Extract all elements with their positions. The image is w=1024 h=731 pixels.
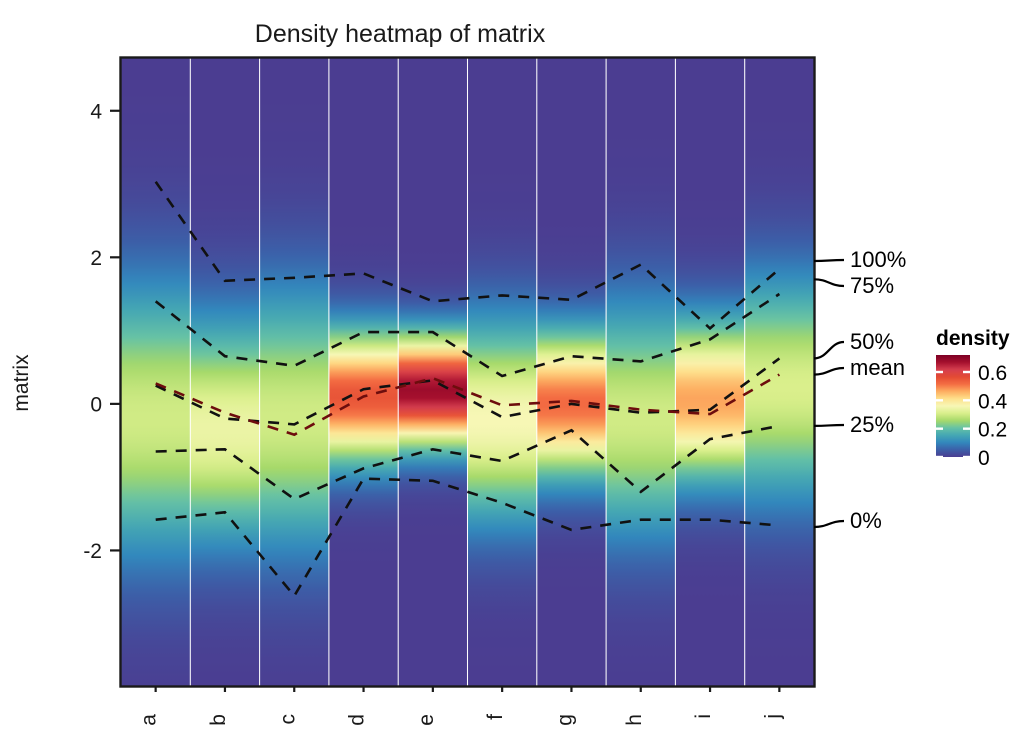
heatmap-column-h <box>607 58 675 686</box>
legend-tick-label: 0 <box>978 447 990 470</box>
y-tick-label: 0 <box>90 393 102 416</box>
heatmap-column-e <box>399 58 467 686</box>
x-tick-label-g: g <box>553 714 576 726</box>
annotation-leader-line <box>814 279 844 286</box>
y-tick-label: 2 <box>90 247 102 270</box>
x-tick-label-e: e <box>415 714 438 726</box>
x-tick-label-c: c <box>276 714 299 725</box>
x-tick-label-i: i <box>692 714 715 719</box>
y-axis: 420-2 <box>83 100 121 563</box>
annotation-leader-line <box>814 342 844 358</box>
heatmap-column-i <box>676 58 744 686</box>
annotation-leader-line <box>814 260 844 261</box>
annotation-label-mean: mean <box>850 355 905 380</box>
annotation-leader-line <box>814 368 844 375</box>
annotation-label-25pct: 25% <box>850 412 894 437</box>
legend-tick-label: 0.6 <box>978 362 1007 385</box>
legend-tick-label: 0.2 <box>978 419 1007 442</box>
x-tick-label-f: f <box>484 714 507 720</box>
y-tick-label: 4 <box>90 100 102 123</box>
annotation-label-50pct: 50% <box>850 329 894 354</box>
heatmap-column-g <box>537 58 605 686</box>
heatmap-column-b <box>191 58 259 686</box>
annotation-leader-line <box>814 425 844 426</box>
legend-title: density <box>936 327 1010 350</box>
y-axis-title: matrix <box>10 354 33 412</box>
heatmap-column-c <box>260 58 328 686</box>
density-heatmap-figure: Density heatmap of matrix matrix 420-2 a… <box>0 0 1024 731</box>
legend-colorbar[interactable] <box>936 355 970 457</box>
annotation-label-100pct: 100% <box>850 247 906 272</box>
x-tick-label-b: b <box>207 714 230 726</box>
heatmap-column-f <box>468 58 536 686</box>
quantile-annotations: 100%75%50%mean25%0% <box>814 247 906 533</box>
y-tick-label: -2 <box>83 540 102 563</box>
heatmap-columns <box>122 58 814 686</box>
annotation-leader-line <box>814 521 844 527</box>
heatmap-column-d <box>329 58 397 686</box>
legend-tick-label: 0.4 <box>978 390 1008 413</box>
heatmap-column-a <box>122 58 190 686</box>
chart-canvas: Density heatmap of matrix matrix 420-2 a… <box>0 0 1024 731</box>
page-title: Density heatmap of matrix <box>255 20 546 48</box>
x-tick-label-d: d <box>346 714 369 726</box>
x-tick-label-h: h <box>623 714 646 726</box>
heatmap-column-j <box>745 58 813 686</box>
density-legend[interactable]: 00.20.40.6 <box>936 355 1008 470</box>
x-axis: abcdefghij <box>138 686 785 726</box>
x-tick-label-a: a <box>138 714 161 726</box>
annotation-label-75pct: 75% <box>850 273 894 298</box>
x-tick-label-j: j <box>761 714 784 720</box>
annotation-label-0pct: 0% <box>850 508 882 533</box>
